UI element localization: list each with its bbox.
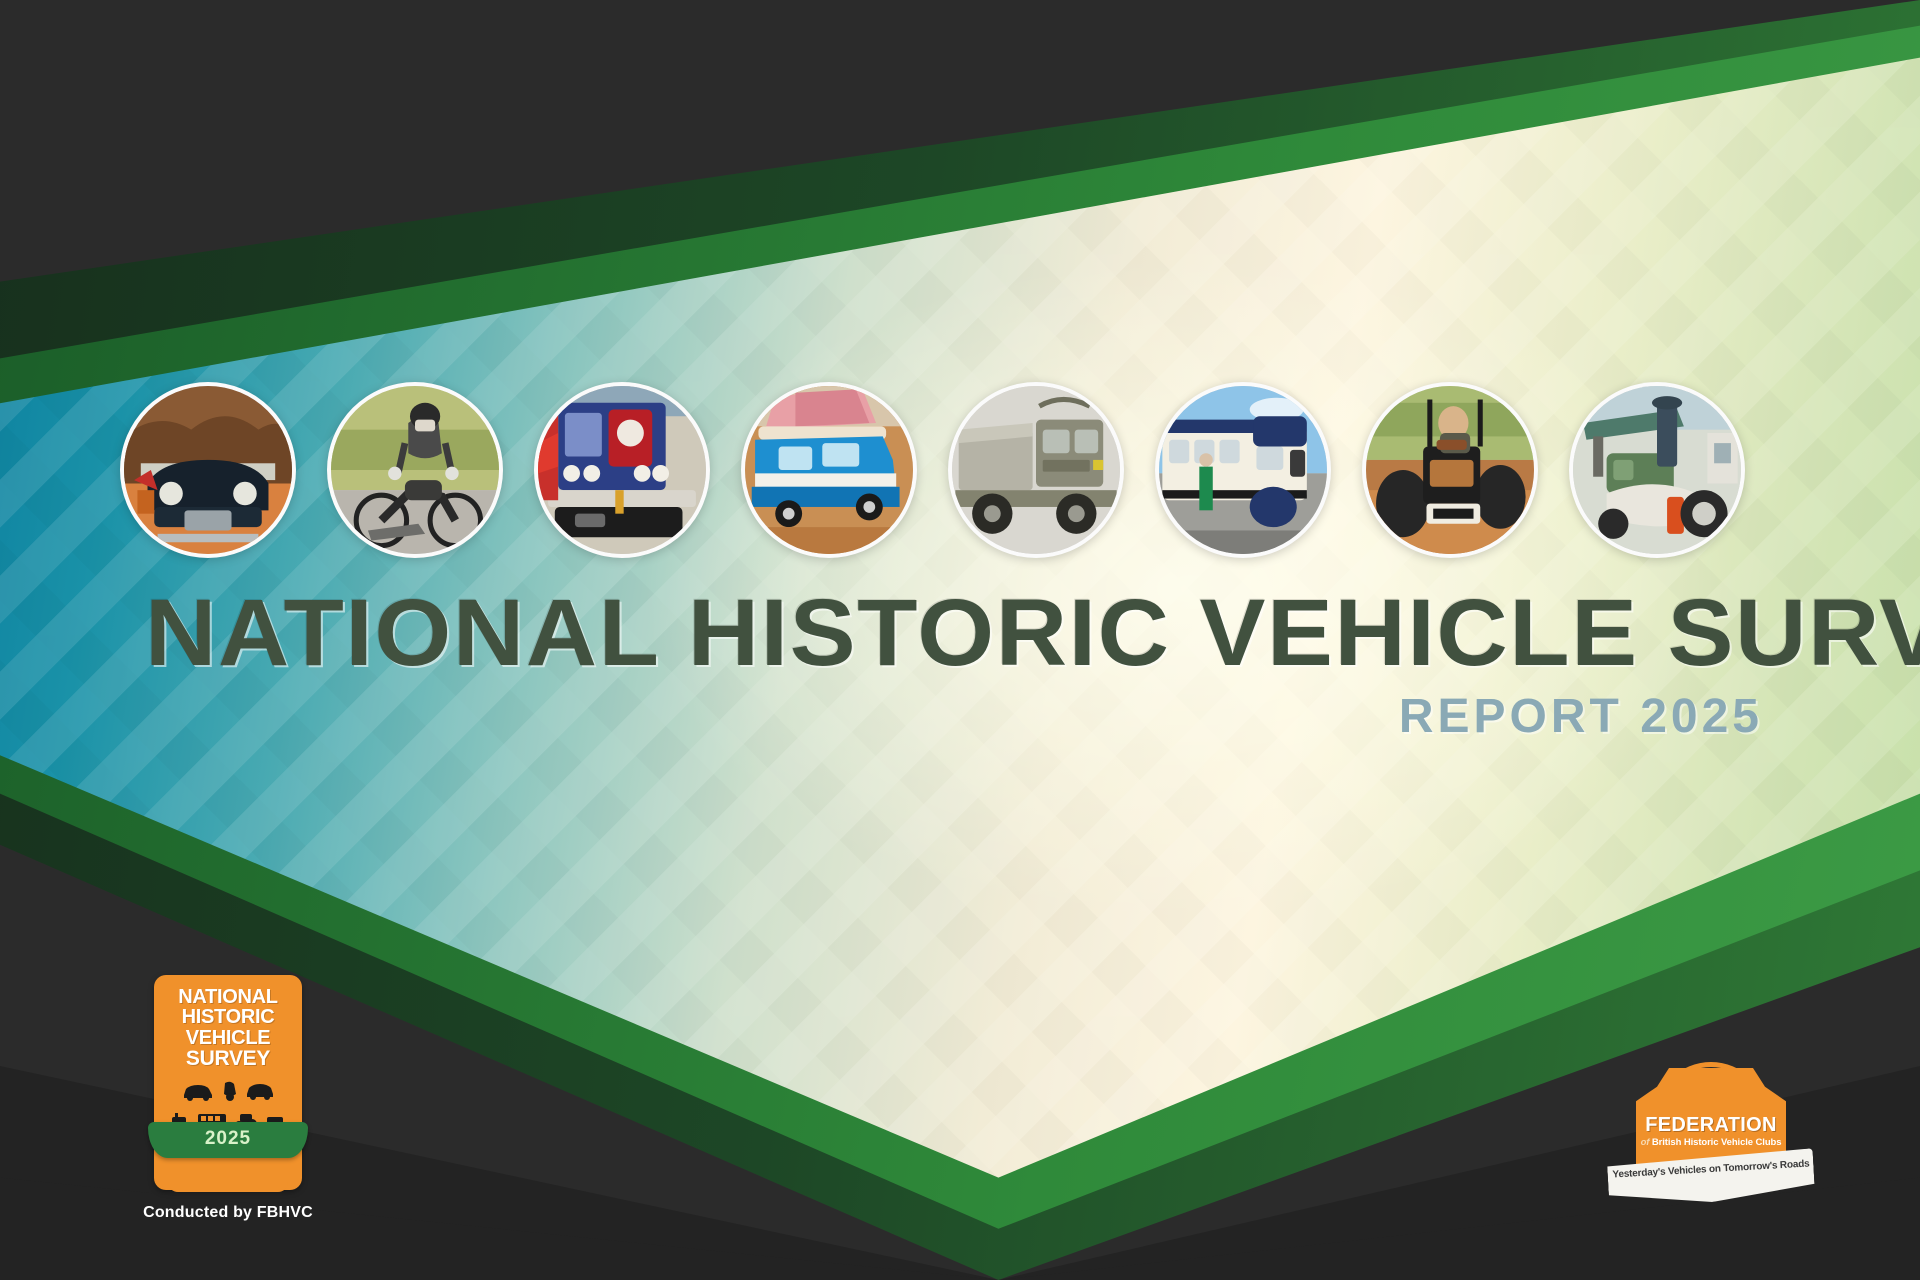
nhvs-line-2: HISTORIC: [162, 1007, 294, 1027]
vintage-car-silhouette-icon: [245, 1081, 275, 1101]
motorcycle-silhouette-icon: [219, 1079, 241, 1101]
nhvs-line-1: NATIONAL: [162, 987, 294, 1007]
fbhvc-logo-badge[interactable]: FEDERATION of British Historic Vehicle C…: [1608, 1068, 1818, 1208]
nhvs-year-ribbon: 2025: [162, 1116, 294, 1164]
steam-traction-engine-icon: [1573, 386, 1741, 554]
vehicle-circle-vintage-motorcycle: [327, 382, 503, 558]
classic-sports-car-icon: [124, 386, 292, 554]
report-cover: NATIONAL HISTORIC VEHICLE SURVEY REPORT …: [0, 0, 1920, 1280]
vintage-tractor-icon: [1366, 386, 1534, 554]
vintage-fire-engine-icon: [538, 386, 706, 554]
vehicle-circle-steam-traction-engine: [1569, 382, 1745, 558]
page-title: NATIONAL HISTORIC VEHICLE SURVEY: [145, 588, 1851, 679]
vehicle-circle-classic-campervan: [741, 382, 917, 558]
vintage-motorcycle-icon: [331, 386, 499, 554]
nhvs-logo-badge[interactable]: NATIONAL HISTORIC VEHICLE SURVEY: [128, 975, 328, 1222]
nhvs-badge-foot: [168, 1176, 288, 1192]
vehicle-circle-vintage-fire-engine: [534, 382, 710, 558]
vehicle-circle-vintage-tractor: [1362, 382, 1538, 558]
fbhvc-connector: of: [1641, 1137, 1650, 1148]
fbhvc-subtitle: of British Historic Vehicle Clubs: [1636, 1137, 1786, 1148]
nhvs-line-4: SURVEY: [162, 1048, 294, 1069]
nhvs-vehicle-silhouettes-top: [162, 1079, 294, 1101]
nhvs-line-3: VEHICLE: [162, 1028, 294, 1048]
vehicle-circle-vintage-coach-bus: [1155, 382, 1331, 558]
fbhvc-federation-text: FEDERATION: [1636, 1114, 1786, 1137]
title-block: NATIONAL HISTORIC VEHICLE SURVEY REPORT …: [145, 588, 1785, 744]
vintage-coach-bus-icon: [1159, 386, 1327, 554]
military-truck-icon: [952, 386, 1120, 554]
nhvs-badge-card: NATIONAL HISTORIC VEHICLE SURVEY: [154, 975, 302, 1190]
page-subtitle: REPORT 2025: [145, 689, 1785, 744]
car-silhouette-icon: [181, 1081, 215, 1101]
fbhvc-subtitle-text: British Historic Vehicle Clubs: [1652, 1137, 1782, 1148]
vehicle-circle-strip: [120, 382, 1820, 558]
classic-campervan-icon: [745, 386, 913, 554]
nhvs-conducted-by-caption: Conducted by FBHVC: [128, 1204, 328, 1222]
nhvs-year: 2025: [162, 1128, 294, 1150]
vehicle-circle-military-truck: [948, 382, 1124, 558]
vehicle-circle-classic-sports-car: [120, 382, 296, 558]
